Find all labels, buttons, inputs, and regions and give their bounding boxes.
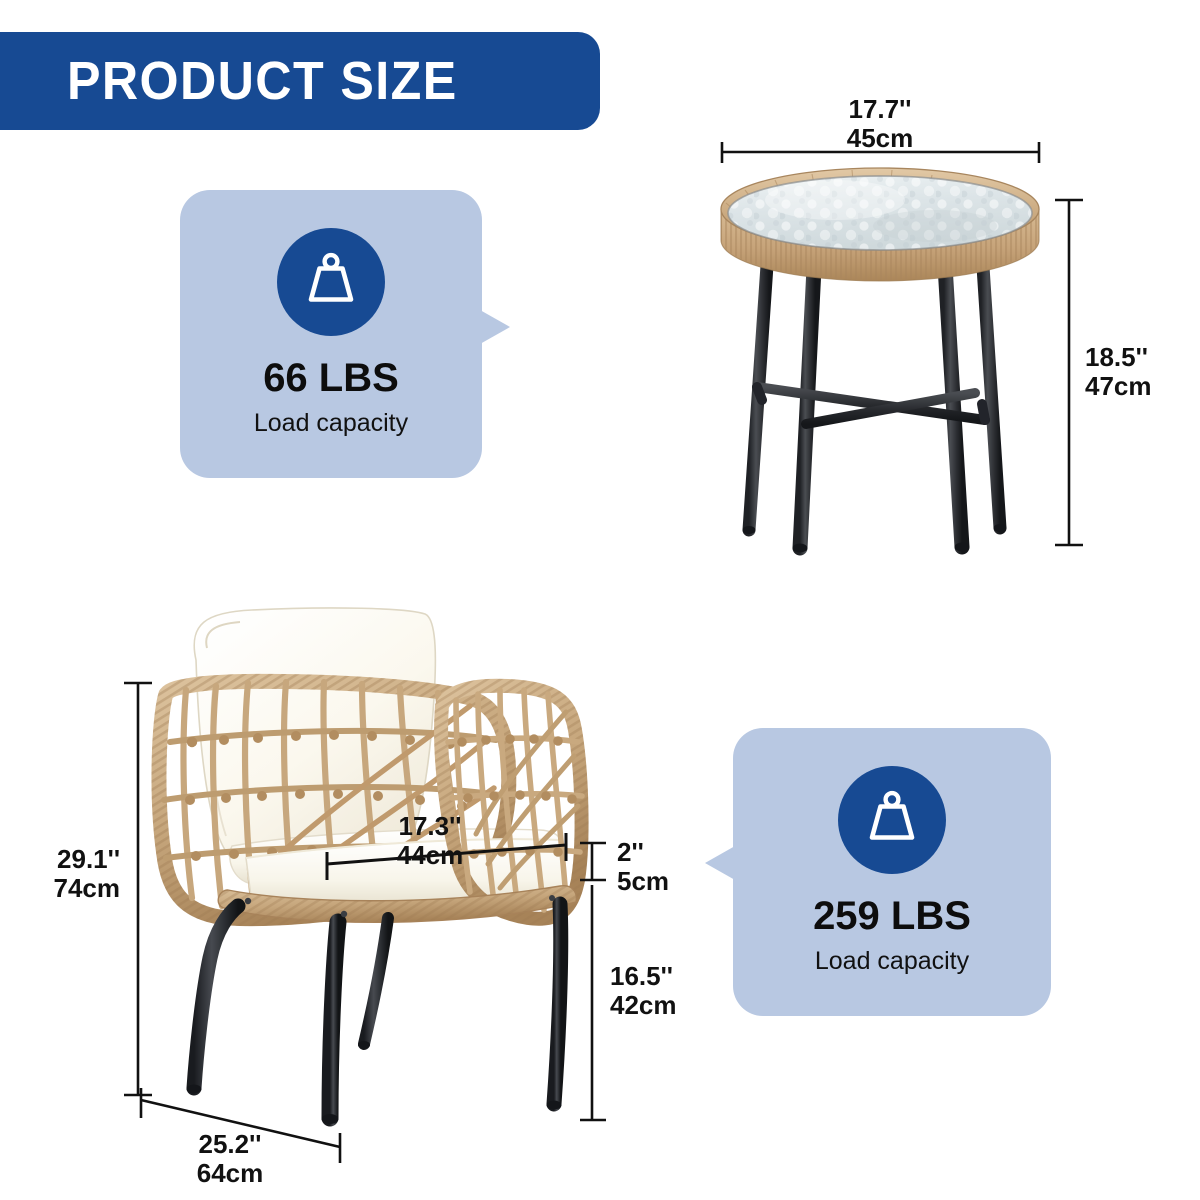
- dimension-metric: 42cm: [610, 991, 677, 1020]
- infographic-canvas: PRODUCT SIZE 66 LBS Load capacity: [0, 0, 1200, 1200]
- dimension-imperial: 16.5'': [610, 962, 677, 991]
- dimension-label-chair-height: 29.1'' 74cm: [28, 845, 120, 903]
- dimension-imperial: 17.3'': [360, 812, 500, 841]
- chair-legs: [187, 895, 562, 1124]
- dimension-label-chair-cushion-height: 2'' 5cm: [617, 838, 669, 896]
- dimension-label-chair-seat-width: 17.3'' 44cm: [360, 812, 500, 870]
- dimension-imperial: 25.2'': [155, 1130, 305, 1159]
- armchair-illustration: [0, 0, 1200, 1200]
- dimension-label-chair-depth: 25.2'' 64cm: [155, 1130, 305, 1188]
- dimension-metric: 44cm: [360, 841, 500, 870]
- dimension-line-chair-height: [124, 683, 152, 1095]
- dimension-imperial: 29.1'': [28, 845, 120, 874]
- dimension-imperial: 2'': [617, 838, 669, 867]
- dimension-metric: 5cm: [617, 867, 669, 896]
- dimension-label-chair-seat-height: 16.5'' 42cm: [610, 962, 677, 1020]
- dimension-metric: 74cm: [28, 874, 120, 903]
- dimension-line-chair-seat-height: [580, 885, 606, 1120]
- dimension-metric: 64cm: [155, 1159, 305, 1188]
